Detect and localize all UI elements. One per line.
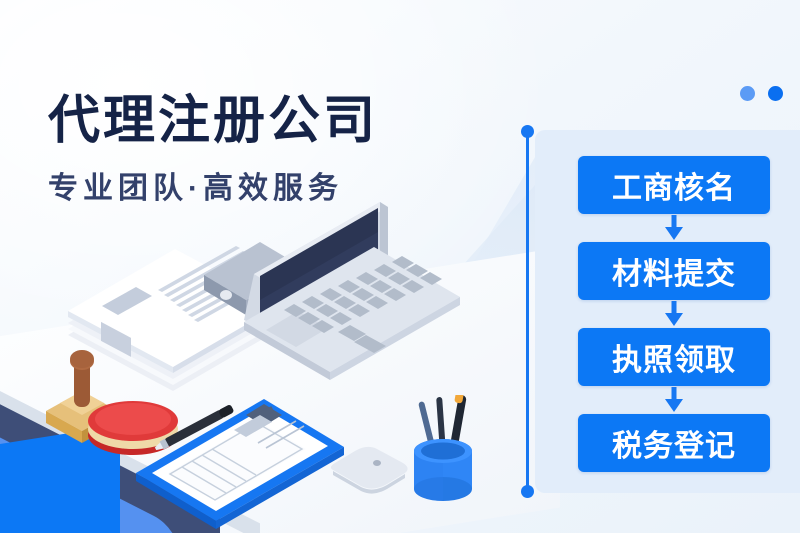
circle-dot-icon-strong (768, 86, 783, 101)
flow-arrow-1 (578, 214, 770, 242)
arrow-down-icon (664, 387, 684, 413)
timeline-rail (524, 125, 531, 498)
flow-step-2[interactable]: 材料提交 (578, 242, 770, 300)
page-title: 代理注册公司 (48, 94, 448, 149)
flow-step-3[interactable]: 执照领取 (578, 328, 770, 386)
flow-step-3-label: 执照领取 (612, 335, 736, 379)
desk-illustration (0, 195, 540, 533)
arrow-down-icon (664, 301, 684, 327)
flow-arrow-3 (578, 386, 770, 414)
flow-step-4[interactable]: 税务登记 (578, 414, 770, 472)
headline-block: 代理注册公司 专业团队·高效服务 (48, 94, 448, 207)
pen-cup-icon (398, 395, 488, 510)
flow-step-4-label: 税务登记 (612, 421, 736, 465)
poster-canvas: 代理注册公司 专业团队·高效服务 (0, 0, 800, 533)
flow-step-1[interactable]: 工商核名 (578, 156, 770, 214)
process-flow: 工商核名 材料提交 执照领取 税务登记 (578, 156, 770, 472)
laptop-icon (232, 200, 492, 410)
decor-dots (740, 86, 786, 102)
rail-line (526, 131, 529, 492)
rail-knob-bottom-icon (521, 485, 534, 498)
flow-step-1-label: 工商核名 (612, 163, 736, 207)
clipboard-icon (130, 385, 350, 533)
arrow-down-icon (664, 215, 684, 241)
flow-arrow-2 (578, 300, 770, 328)
circle-dot-icon-light (740, 86, 755, 101)
flow-step-2-label: 材料提交 (612, 249, 736, 293)
